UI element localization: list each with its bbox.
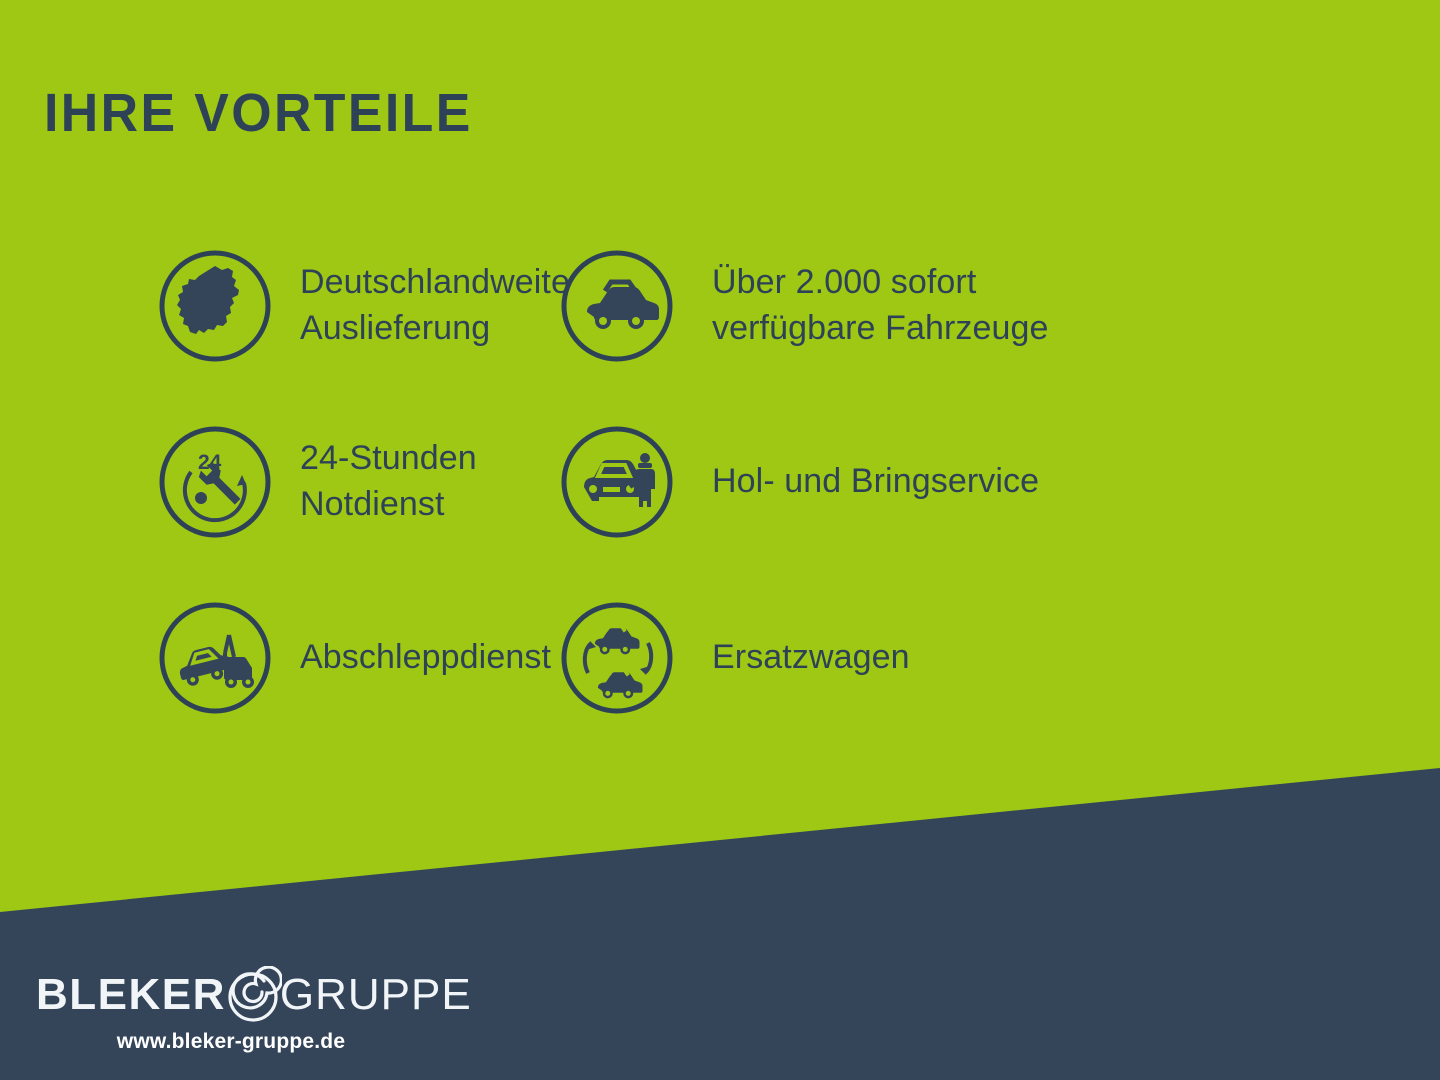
benefit-item-hol-und-bringservice: Hol- und Bringservice [560,394,1280,570]
benefit-item-deutschlandweite-auslieferung: Deutschlandweite Auslieferung [0,218,560,394]
benefit-label: Über 2.000 sofort verfügbare Fahrzeuge [712,260,1049,351]
benefits-row: 24 24-Stunden Notdienst [0,394,1440,570]
benefit-item-24-stunden-notdienst: 24 24-Stunden Notdienst [0,394,560,570]
benefit-label: Deutschlandweite Auslieferung [300,260,570,351]
benefit-item-ersatzwagen: Ersatzwagen [560,570,1280,746]
logo-url: www.bleker-gruppe.de [36,1030,426,1054]
benefit-label: Hol- und Bringservice [712,459,1039,505]
germany-map-icon [158,249,272,363]
benefit-label: Abschleppdienst [300,635,551,681]
spiral-icon [224,966,282,1024]
page-title: IHRE VORTEILE [44,82,473,144]
logo-row: BLEKER GRUPPE [36,966,456,1024]
tow-truck-icon [158,601,272,715]
benefit-label: Ersatzwagen [712,635,910,681]
benefit-item-abschleppdienst: Abschleppdienst [0,570,560,746]
logo-primary-text: BLEKER [36,973,226,1017]
car-side-icon [560,249,674,363]
benefit-label: 24-Stunden Notdienst [300,436,477,527]
benefits-grid: Deutschlandweite Auslieferung Über 2.000… [0,218,1440,746]
logo-secondary-text: GRUPPE [280,973,472,1017]
footer-logo-block: BLEKER GRUPPE www.bleker-gruppe.de [36,966,456,1054]
slide-root: IHRE VORTEILE Deutschlandweite Ausliefer… [0,0,1440,1080]
car-with-driver-icon [560,425,674,539]
benefits-row: Deutschlandweite Auslieferung Über 2.000… [0,218,1440,394]
benefits-row: Abschleppdienst [0,570,1440,746]
benefit-item-verfuegbare-fahrzeuge: Über 2.000 sofort verfügbare Fahrzeuge [560,218,1280,394]
24-hours-wrench-icon: 24 [158,425,272,539]
two-cars-exchange-icon [560,601,674,715]
